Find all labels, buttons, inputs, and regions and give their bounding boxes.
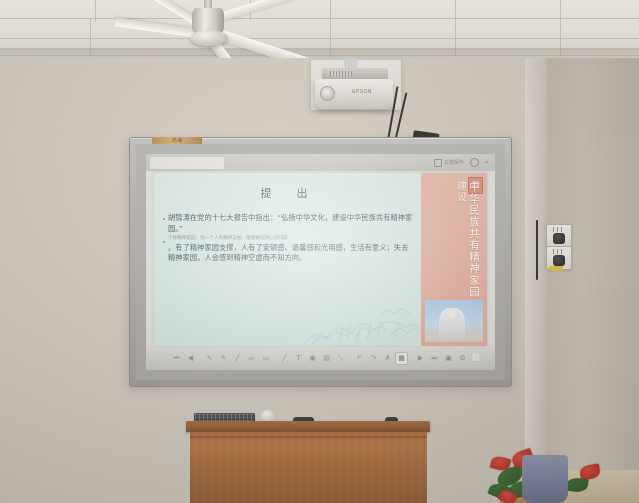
classroom-scene: EPSON 鸿海 云端保存 ✒	[0, 0, 639, 503]
slide-title: 提 出	[154, 185, 421, 201]
bullet-text-1: 胡锦涛在党的十七大报告中指出：“弘扬中华文化，建设中华民族共有精神家园。”	[168, 213, 413, 234]
fan-hub	[190, 30, 228, 46]
bullet-dot-icon	[163, 218, 165, 220]
list-item: 胡锦涛在党的十七大报告中指出：“弘扬中华文化，建设中华民族共有精神家园。”	[163, 213, 413, 234]
scene-vignette	[0, 58, 639, 503]
bullet-dot-icon	[163, 241, 165, 243]
slide-bullet-list: 胡锦涛在党的十七大报告中指出：“弘扬中华文化，建设中华民族共有精神家园。” 个体…	[163, 213, 413, 264]
ceiling-fan	[118, 0, 318, 58]
list-item: 个体精神家园：指一个人的精神支柱、情感寄托和心灵归宿 。有了精神家园支撑，人有了…	[163, 236, 413, 264]
bullet-text-2: 。有了精神家园支撑，人有了安顿感、温馨感和光明感，生活有意义；失去精神家园，人会…	[168, 243, 413, 264]
